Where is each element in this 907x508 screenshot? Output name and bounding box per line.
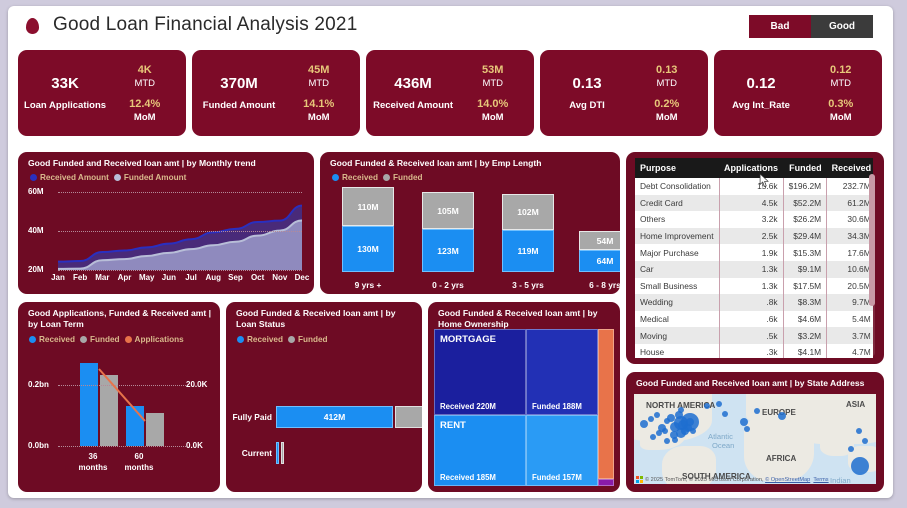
table-cell: $8.3M <box>783 294 827 311</box>
chart-loan-term[interactable]: Good Applications, Funded & Received amt… <box>18 302 220 492</box>
table-row[interactable]: Others3.2k$26.2M30.6M <box>635 211 873 228</box>
kpi-secondary: 45M MTD 14.1% MoM <box>283 50 354 136</box>
table-cell: Debt Consolidation <box>635 178 719 195</box>
map-bubble[interactable] <box>716 401 722 407</box>
attribution-text: © 2025 TomTom, © 2025 Microsoft Corporat… <box>645 477 764 483</box>
table-cell: .3k <box>719 344 783 358</box>
kpi-label: Loan Applications <box>24 100 106 111</box>
treemap-cell-rent-received[interactable]: RENTReceived 185M <box>434 415 526 486</box>
table-viewport[interactable]: PurposeApplicationsFundedReceived Debt C… <box>635 158 873 358</box>
kpi-value: 33K <box>51 75 79 92</box>
table-row[interactable]: Debt Consolidation15.6k$196.2M232.7M <box>635 178 873 195</box>
table-cell: $4.6M <box>783 311 827 328</box>
plot-area: 36 months60 months0.0bn0.0K0.2bn20.0K <box>18 302 220 492</box>
x-axis-tick: Jun <box>159 273 179 282</box>
page-title: Good Loan Financial Analysis 2021 <box>53 14 357 36</box>
kpi-mtd-value: 4K <box>138 64 152 76</box>
plot-area: Fully Paid412M351MCurrent <box>226 302 422 492</box>
table-cell: Major Purchase <box>635 244 719 261</box>
cursor-pointer-icon <box>759 173 770 188</box>
table-row[interactable]: Home Improvement2.5k$29.4M34.3M <box>635 228 873 245</box>
red-dot-icon <box>26 18 39 34</box>
table-cell: Others <box>635 211 719 228</box>
y-axis-tick: 40M <box>28 226 44 235</box>
table-cell: .8k <box>719 294 783 311</box>
kpi-mtd-value: 0.13 <box>656 64 677 76</box>
table-header-row[interactable]: PurposeApplicationsFundedReceived <box>635 158 873 178</box>
table-cell: 17.6M <box>827 244 873 261</box>
table-cell: Car <box>635 261 719 278</box>
treemap-cell-mortgage-funded[interactable]: Funded 188M <box>526 329 598 415</box>
kpi-mom-value: 0.3% <box>828 98 853 110</box>
x-axis-tick: Nov <box>270 273 290 282</box>
table-cell: House <box>635 344 719 358</box>
x-axis-tick: 3 - 5 yrs <box>494 280 562 290</box>
table-cell: 1.3k <box>719 261 783 278</box>
table-cell: 9.7M <box>827 294 873 311</box>
treemap-cell-own-received[interactable] <box>598 329 614 479</box>
map-bubble[interactable] <box>672 437 678 443</box>
table-row[interactable]: Credit Card4.5k$52.2M61.2M <box>635 195 873 212</box>
map-label-atlantic: Atlantic <box>708 432 733 441</box>
bar-funded[interactable]: 110M <box>342 187 394 226</box>
kpi-mom-label: MoM <box>656 112 678 123</box>
map-canvas[interactable]: NORTH AMERICA EUROPE ASIA AFRICA SOUTH A… <box>634 394 876 484</box>
table-scrollbar[interactable] <box>869 174 875 356</box>
column-header-funded[interactable]: Funded <box>783 158 827 178</box>
treemap-cell-other-funded[interactable] <box>598 479 614 486</box>
treemap-area: MORTGAGEReceived 220MFunded 188MRENTRece… <box>434 329 614 486</box>
table-purpose-breakdown[interactable]: PurposeApplicationsFundedReceived Debt C… <box>626 152 884 364</box>
map-bubble[interactable] <box>656 430 662 436</box>
map-bubble[interactable] <box>851 457 869 475</box>
kpi-value: 0.12 <box>746 75 775 92</box>
x-axis-tick: Apr <box>115 273 135 282</box>
y-axis-tick: 60M <box>28 187 44 196</box>
kpi-card-avg-int-rate[interactable]: 0.12 Avg Int_Rate 0.12 MTD 0.3% MoM <box>714 50 882 136</box>
kpi-card-avg-dti[interactable]: 0.13 Avg DTI 0.13 MTD 0.2% MoM <box>540 50 708 136</box>
attribution-terms-link[interactable]: Terms <box>813 477 828 483</box>
legend-label: Received Amount <box>40 173 109 182</box>
kpi-mom-value: 14.0% <box>477 98 508 110</box>
bar-received[interactable]: 64M <box>579 250 620 272</box>
table-cell: $196.2M <box>783 178 827 195</box>
chart-monthly-trend[interactable]: Good Funded and Received loan amt | by M… <box>18 152 314 294</box>
kpi-mtd-value: 45M <box>308 64 329 76</box>
table-scrollbar-thumb[interactable] <box>869 174 875 306</box>
chart-title: Good Funded and Received loan amt | by M… <box>28 158 306 169</box>
table-cell: $15.3M <box>783 244 827 261</box>
table-cell: Moving <box>635 327 719 344</box>
kpi-mtd-value: 0.12 <box>830 64 851 76</box>
x-axis-tick: Sep <box>225 273 245 282</box>
dashboard-header: Good Loan Financial Analysis 2021 Bad Go… <box>8 6 893 48</box>
map-bubble[interactable] <box>722 411 728 417</box>
chart-title: Good Funded & Received loan amt | by Hom… <box>438 308 612 330</box>
table-cell: $9.1M <box>783 261 827 278</box>
kpi-mom-label: MoM <box>308 112 330 123</box>
kpi-primary: 33K Loan Applications <box>18 50 112 136</box>
kpi-primary: 0.12 Avg Int_Rate <box>714 50 808 136</box>
chart-home-ownership[interactable]: Good Funded & Received loan amt | by Hom… <box>428 302 620 492</box>
table-row[interactable]: House.3k$4.1M4.7M <box>635 344 873 358</box>
kpi-mom-label: MoM <box>830 112 852 123</box>
kpi-value: 370M <box>220 75 258 92</box>
table-cell: 4.7M <box>827 344 873 358</box>
bar-funded[interactable]: 102M <box>502 194 554 230</box>
x-axis-tick: May <box>137 273 157 282</box>
map-bubble[interactable] <box>654 412 660 418</box>
table-cell: Home Improvement <box>635 228 719 245</box>
kpi-mtd-value: 53M <box>482 64 503 76</box>
table-cell: 2.5k <box>719 228 783 245</box>
dashboard-container: Good Loan Financial Analysis 2021 Bad Go… <box>8 6 893 498</box>
quality-toggle-group[interactable]: Bad Good <box>749 15 873 38</box>
x-axis-tick: Oct <box>248 273 268 282</box>
category-label: Fully Paid <box>228 412 272 422</box>
table-cell: Medical <box>635 311 719 328</box>
treemap-value-label: Funded 157M <box>532 473 582 482</box>
chart-state-address-map[interactable]: Good Funded and Received loan amt | by S… <box>626 372 884 492</box>
table-row[interactable]: Major Purchase1.9k$15.3M17.6M <box>635 244 873 261</box>
table-cell: Credit Card <box>635 195 719 212</box>
kpi-mom-value: 12.4% <box>129 98 160 110</box>
kpi-label: Avg DTI <box>569 100 605 111</box>
treemap-value-label: Received 185M <box>440 473 496 482</box>
kpi-label: Avg Int_Rate <box>732 100 790 111</box>
map-bubble[interactable] <box>754 408 760 414</box>
kpi-label: Funded Amount <box>203 100 275 111</box>
gridline <box>58 192 302 193</box>
kpi-row: 33K Loan Applications 4K MTD 12.4% MoM 3… <box>18 50 883 136</box>
table-cell: $26.2M <box>783 211 827 228</box>
chart-emp-length[interactable]: Good Funded & Received loan amt | by Emp… <box>320 152 620 294</box>
kpi-value: 436M <box>394 75 432 92</box>
x-axis-tick: Jan <box>48 273 68 282</box>
x-axis-tick: Jul <box>181 273 201 282</box>
kpi-secondary: 4K MTD 12.4% MoM <box>109 50 180 136</box>
treemap-category-label: RENT <box>440 420 466 431</box>
table-cell: Wedding <box>635 294 719 311</box>
x-axis-tick: Feb <box>70 273 90 282</box>
bar-received[interactable]: 412M <box>276 406 393 428</box>
table-cell: Small Business <box>635 278 719 295</box>
map-bubble[interactable] <box>848 446 854 452</box>
table-body[interactable]: Debt Consolidation15.6k$196.2M232.7MCred… <box>635 178 873 358</box>
column-header-received[interactable]: Received <box>827 158 873 178</box>
x-axis-tick: 6 - 8 yrs <box>571 280 620 290</box>
map-bubble[interactable] <box>664 438 670 444</box>
legend-swatch <box>30 174 37 181</box>
chart-legend[interactable]: Received AmountFunded Amount <box>30 173 186 182</box>
table-cell: 4.5k <box>719 195 783 212</box>
map-attribution: © 2025 TomTom, © 2025 Microsoft Corporat… <box>645 477 829 483</box>
map-bubble[interactable] <box>678 407 684 413</box>
gridline <box>58 231 302 232</box>
table-cell: 232.7M <box>827 178 873 195</box>
legend-label: Funded Amount <box>124 173 186 182</box>
map-bubble[interactable] <box>856 428 862 434</box>
map-bubble[interactable] <box>744 426 750 432</box>
chart-title: Good Funded and Received loan amt | by S… <box>636 378 876 389</box>
kpi-card-funded-amount[interactable]: 370M Funded Amount 45M MTD 14.1% MoM <box>192 50 360 136</box>
y-axis-tick: 20M <box>28 265 44 274</box>
kpi-mom-value: 14.1% <box>303 98 334 110</box>
x-axis-tick: 9 yrs + <box>334 280 402 290</box>
map-bubble[interactable] <box>704 403 710 409</box>
legend-item-received-amount[interactable]: Received Amount <box>30 173 109 182</box>
bar-funded[interactable]: 105M <box>422 192 474 229</box>
toggle-bad-button[interactable]: Bad <box>749 15 811 38</box>
treemap-cell-mortgage-received[interactable]: MORTGAGEReceived 220M <box>434 329 526 415</box>
column-header-purpose[interactable]: Purpose <box>635 158 719 178</box>
map-bubble[interactable] <box>640 420 648 428</box>
map-label-indian: Indian <box>830 476 851 484</box>
table-row[interactable]: Car1.3k$9.1M10.6M <box>635 261 873 278</box>
treemap-cell-rent-funded[interactable]: Funded 157M <box>526 415 598 486</box>
kpi-primary: 0.13 Avg DTI <box>540 50 634 136</box>
table-row[interactable]: Moving.5k$3.2M3.7M <box>635 327 873 344</box>
bar-received[interactable] <box>276 442 279 464</box>
map-label-asia: ASIA <box>846 400 865 409</box>
table-cell: $52.2M <box>783 195 827 212</box>
bar-funded[interactable] <box>281 442 284 464</box>
x-axis-tick: Mar <box>92 273 112 282</box>
map-bubble[interactable] <box>862 438 868 444</box>
table-cell: 1.9k <box>719 244 783 261</box>
table-cell: 3.7M <box>827 327 873 344</box>
legend-item-funded-amount[interactable]: Funded Amount <box>114 173 186 182</box>
dashboard-canvas: Good Loan Financial Analysis 2021 Bad Go… <box>0 0 907 508</box>
kpi-secondary: 0.12 MTD 0.3% MoM <box>805 50 876 136</box>
x-axis-tick: 0 - 2 yrs <box>414 280 482 290</box>
kpi-mtd-label: MTD <box>134 78 155 89</box>
table-cell: 5.4M <box>827 311 873 328</box>
treemap-value-label: Funded 188M <box>532 402 582 411</box>
kpi-primary: 370M Funded Amount <box>192 50 286 136</box>
map-label-africa: AFRICA <box>766 454 796 463</box>
map-bubble[interactable] <box>778 412 786 420</box>
column-group[interactable]: 105M123M <box>422 192 474 272</box>
kpi-label: Received Amount <box>373 100 453 111</box>
table-cell: $17.5M <box>783 278 827 295</box>
map-bubble[interactable] <box>740 418 748 426</box>
table-cell: 30.6M <box>827 211 873 228</box>
legend-swatch <box>114 174 121 181</box>
attribution-osm-link[interactable]: © OpenStreetMap <box>765 477 810 483</box>
kpi-secondary: 53M MTD 14.0% MoM <box>457 50 528 136</box>
kpi-card-received-amount[interactable]: 436M Received Amount 53M MTD 14.0% MoM <box>366 50 534 136</box>
table-cell: .5k <box>719 327 783 344</box>
map-bubble[interactable] <box>650 434 656 440</box>
table-cell: 1.3k <box>719 278 783 295</box>
table-cell: $3.2M <box>783 327 827 344</box>
column-group[interactable]: 54M64M <box>579 231 620 272</box>
map-bubble[interactable] <box>681 427 689 435</box>
kpi-mom-label: MoM <box>482 112 504 123</box>
plot-area: 110M130M9 yrs +105M123M0 - 2 yrs102M119M… <box>320 152 620 294</box>
table-cell: $4.1M <box>783 344 827 358</box>
kpi-value: 0.13 <box>572 75 601 92</box>
table-cell: 20.5M <box>827 278 873 295</box>
x-axis-tick: Aug <box>203 273 223 282</box>
purpose-table[interactable]: PurposeApplicationsFundedReceived Debt C… <box>635 158 873 358</box>
microsoft-logo-icon <box>636 476 643 483</box>
map-bubble[interactable] <box>686 418 694 426</box>
map-bubble[interactable] <box>648 416 654 422</box>
table-row[interactable]: Medical.6k$4.6M5.4M <box>635 311 873 328</box>
table-cell: 34.3M <box>827 228 873 245</box>
column-header-applications[interactable]: Applications <box>719 158 783 178</box>
table-cell: 61.2M <box>827 195 873 212</box>
kpi-primary: 436M Received Amount <box>366 50 460 136</box>
column-group[interactable]: 110M130M <box>342 187 394 272</box>
x-axis-tick: Dec <box>292 273 312 282</box>
category-label: Current <box>228 448 272 458</box>
column-group[interactable]: 102M119M <box>502 194 554 272</box>
gridline <box>58 270 302 271</box>
treemap-value-label: Received 220M <box>440 402 496 411</box>
kpi-mtd-label: MTD <box>482 78 503 89</box>
map-bubble[interactable] <box>662 428 668 434</box>
table-cell: 15.6k <box>719 178 783 195</box>
map-bubble[interactable] <box>690 428 696 434</box>
treemap-category-label: MORTGAGE <box>440 334 496 345</box>
chart-loan-status[interactable]: Good Funded & Received loan amt | by Loa… <box>226 302 422 492</box>
table-cell: 3.2k <box>719 211 783 228</box>
map-label-ocean: Ocean <box>712 441 734 450</box>
bar-funded[interactable]: 54M <box>579 231 620 250</box>
table-row[interactable]: Wedding.8k$8.3M9.7M <box>635 294 873 311</box>
line-applications <box>18 302 220 492</box>
table-cell: .6k <box>719 311 783 328</box>
bar-received[interactable]: 119M <box>502 230 554 272</box>
bar-received[interactable]: 130M <box>342 226 394 272</box>
bar-funded[interactable]: 351M <box>395 406 422 428</box>
kpi-mtd-label: MTD <box>308 78 329 89</box>
toggle-good-button[interactable]: Good <box>811 15 873 38</box>
kpi-mom-label: MoM <box>134 112 156 123</box>
kpi-mom-value: 0.2% <box>654 98 679 110</box>
kpi-mtd-label: MTD <box>656 78 677 89</box>
kpi-secondary: 0.13 MTD 0.2% MoM <box>631 50 702 136</box>
table-cell: $29.4M <box>783 228 827 245</box>
kpi-mtd-label: MTD <box>830 78 851 89</box>
table-row[interactable]: Small Business1.3k$17.5M20.5M <box>635 278 873 295</box>
bar-received[interactable]: 123M <box>422 229 474 272</box>
table-cell: 10.6M <box>827 261 873 278</box>
kpi-card-loan-applications[interactable]: 33K Loan Applications 4K MTD 12.4% MoM <box>18 50 186 136</box>
